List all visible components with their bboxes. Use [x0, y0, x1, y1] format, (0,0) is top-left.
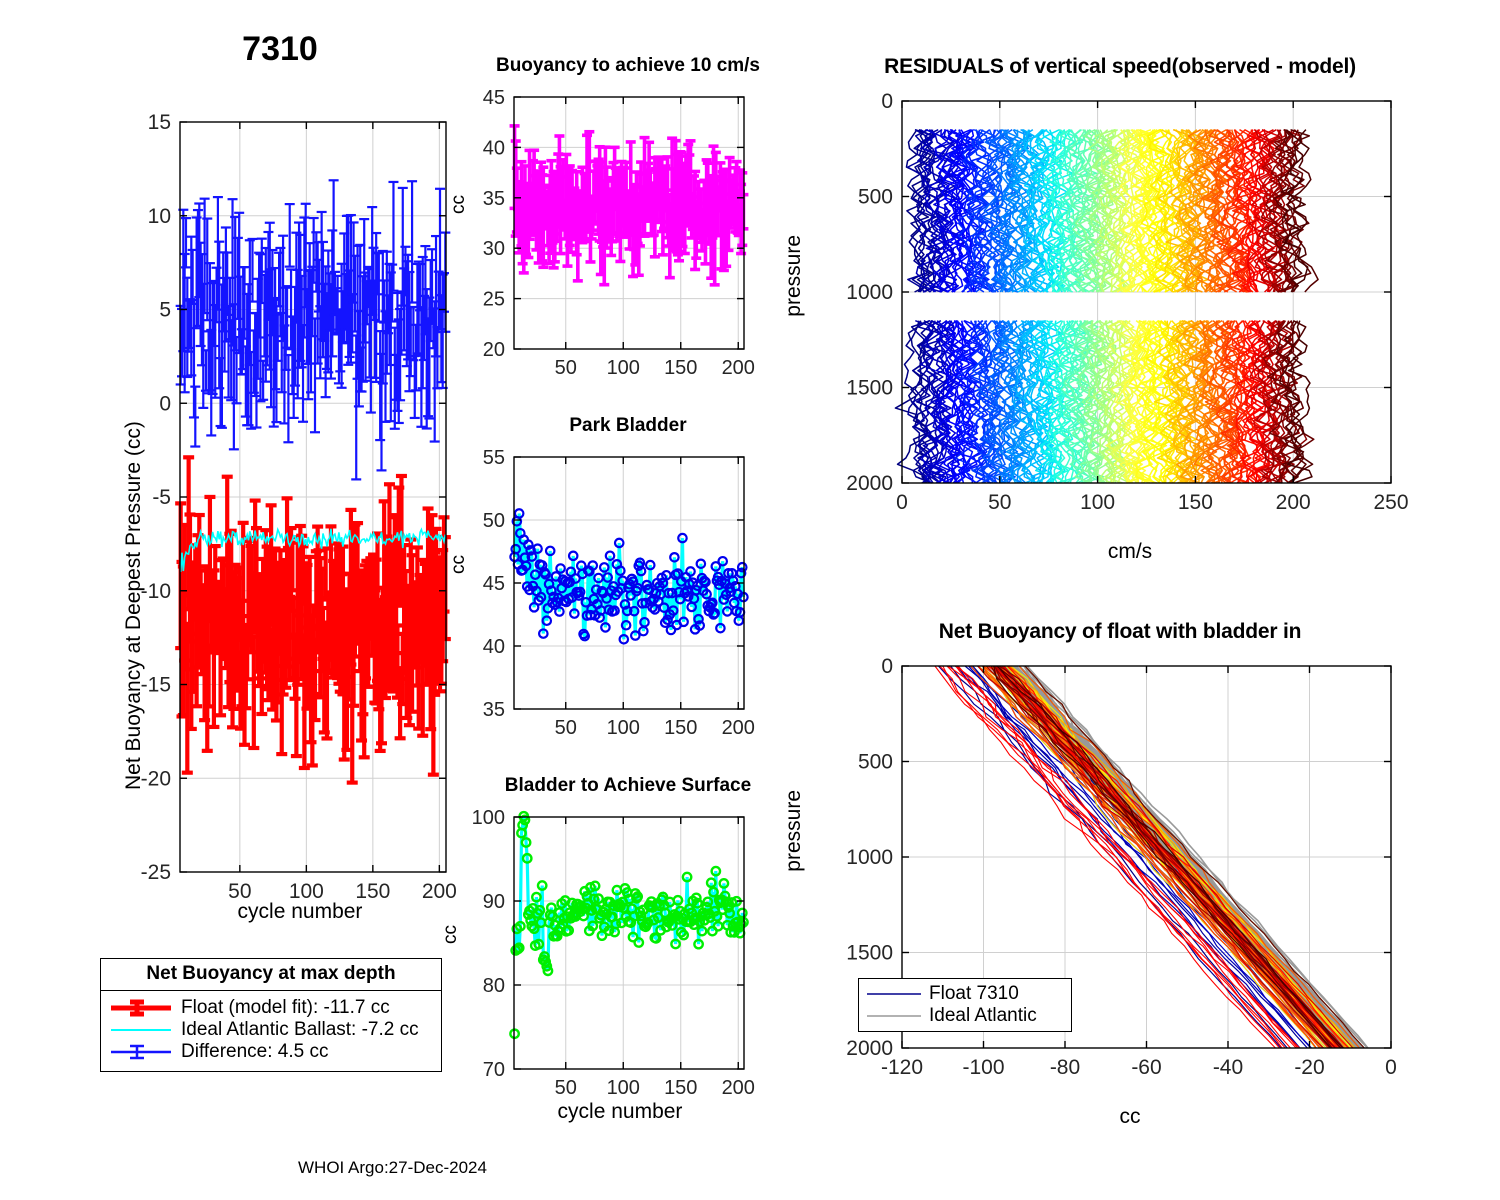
- y-tick-label: 20: [483, 339, 505, 361]
- x-tick-label: 250: [1373, 491, 1408, 514]
- chart-net-buoyancy-deepest: 50100150200151050-5-10-15-20-25: [120, 80, 460, 910]
- page-title: 7310: [100, 30, 460, 69]
- x-tick-label: 50: [555, 1077, 577, 1099]
- series-park-bladder-markers: [510, 509, 747, 643]
- x-tick-label: 200: [1276, 491, 1311, 514]
- y-tick-label: 1500: [846, 942, 893, 965]
- x-tick-label: 100: [607, 357, 640, 379]
- y-tick-label: -10: [141, 580, 171, 603]
- panel-buoyancy-10cms: Buoyancy to achieve 10 cm/s cc 501001502…: [440, 55, 770, 385]
- y-tick-label: 45: [483, 87, 505, 109]
- errorbar-swatch-blue: [109, 1042, 173, 1062]
- chart-park-bladder: 501001502005550454035: [472, 447, 772, 747]
- axis-label-y-pressure-bladder-in: pressure: [782, 790, 806, 872]
- legend-label: Ideal Atlantic Ballast: -7.2 cc: [181, 1019, 419, 1041]
- y-tick-label: 55: [483, 447, 505, 469]
- x-tick-label: 150: [664, 717, 697, 739]
- panel-title-bladder-surface: Bladder to Achieve Surface: [458, 775, 798, 797]
- line-swatch-gray: [865, 1007, 923, 1025]
- panel-title-net-buoyancy-bladder-in: Net Buoyancy of float with bladder in: [820, 620, 1420, 644]
- y-tick-label: 80: [483, 975, 505, 997]
- x-tick-label: 100: [607, 1077, 640, 1099]
- y-tick-label: 500: [858, 751, 893, 774]
- x-tick-label: 200: [722, 357, 755, 379]
- legend-label: Ideal Atlantic: [929, 1005, 1037, 1027]
- x-tick-label: 50: [988, 491, 1011, 514]
- x-tick-label: 150: [664, 1077, 697, 1099]
- legend-item-ideal-atlantic-ballast: Ideal Atlantic Ballast: -7.2 cc: [109, 1019, 433, 1041]
- axis-label-x-cc-bladder-in: cc: [890, 1105, 1370, 1129]
- x-tick-label: 150: [664, 357, 697, 379]
- x-tick-label: -60: [1131, 1056, 1161, 1079]
- axis-label-x-cycle-number: cycle number: [160, 900, 440, 924]
- x-tick-label: 200: [722, 717, 755, 739]
- y-tick-label: 1000: [846, 846, 893, 869]
- y-tick-label: 5: [159, 299, 171, 322]
- axis-label-x-cycle-number-2: cycle number: [480, 1100, 760, 1124]
- legend-label: Float (model fit): -11.7 cc: [181, 997, 390, 1019]
- y-tick-label: 40: [483, 137, 505, 159]
- panel-bladder-surface: Bladder to Achieve Surface cc 5010015020…: [440, 775, 770, 1135]
- x-tick-label: 100: [607, 717, 640, 739]
- legend-net-buoyancy-max-depth: Net Buoyancy at max depth Float (model f…: [100, 958, 442, 1072]
- y-tick-label: 90: [483, 891, 505, 913]
- y-tick-label: 2000: [846, 1037, 893, 1060]
- y-tick-label: 2000: [846, 472, 893, 495]
- y-tick-label: 0: [881, 90, 893, 113]
- axis-label-x-cms: cm/s: [890, 540, 1370, 564]
- y-tick-label: 15: [148, 111, 171, 134]
- series-float-model-fit: [175, 457, 451, 782]
- x-tick-label: -20: [1294, 1056, 1324, 1079]
- legend-item-float-7310: Float 7310: [865, 983, 1065, 1005]
- residual-band-ascent: [895, 321, 1313, 483]
- panel-net-buoyancy-bladder-in: Net Buoyancy of float with bladder in pr…: [790, 620, 1410, 1140]
- panel-title-residuals: RESIDUALS of vertical speed(observed - m…: [820, 55, 1420, 79]
- axis-label-y-cc-buoyancy: cc: [448, 195, 470, 214]
- x-tick-label: 100: [1080, 491, 1115, 514]
- line-swatch-cyan: [109, 1020, 173, 1040]
- y-tick-label: 500: [858, 186, 893, 209]
- axis-label-y-cc-park: cc: [448, 555, 470, 574]
- residual-band-descent: [906, 130, 1318, 292]
- y-tick-label: 30: [483, 238, 505, 260]
- y-tick-label: 100: [472, 807, 505, 829]
- y-tick-label: 50: [483, 510, 505, 532]
- y-tick-label: 1500: [846, 377, 893, 400]
- panel-net-buoyancy-deepest: 7310 Net Buoyancy at Deepest Pressure (c…: [100, 30, 460, 910]
- y-tick-label: 0: [159, 392, 171, 415]
- legend-float-ideal: Float 7310 Ideal Atlantic: [858, 978, 1072, 1032]
- series-buoyancy-errorbars: [510, 126, 749, 285]
- y-tick-label: 45: [483, 573, 505, 595]
- legend-label: Difference: 4.5 cc: [181, 1041, 329, 1063]
- errorbar-swatch-red: [109, 998, 173, 1018]
- series-difference: [176, 180, 451, 479]
- x-tick-label: 150: [1178, 491, 1213, 514]
- legend-item-difference: Difference: 4.5 cc: [109, 1041, 433, 1063]
- y-tick-label: 1000: [846, 281, 893, 304]
- x-tick-label: 50: [555, 357, 577, 379]
- y-tick-label: 40: [483, 636, 505, 658]
- x-tick-label: -100: [962, 1056, 1004, 1079]
- chart-residuals: 0501001502002500500100015002000: [846, 87, 1416, 507]
- chart-buoyancy-10cms: 50100150200454035302520: [472, 87, 772, 387]
- axis-label-y-cc-surface: cc: [440, 925, 462, 944]
- legend-label: Float 7310: [929, 983, 1019, 1005]
- y-tick-label: 35: [483, 699, 505, 721]
- panel-residuals: RESIDUALS of vertical speed(observed - m…: [790, 55, 1410, 585]
- chart-bladder-surface: 50100150200100908070: [472, 807, 772, 1107]
- footer-text: WHOI Argo:27-Dec-2024: [298, 1158, 487, 1178]
- y-tick-label: -5: [152, 486, 171, 509]
- x-tick-label: -40: [1213, 1056, 1243, 1079]
- x-tick-label: 50: [555, 717, 577, 739]
- y-tick-label: 25: [483, 289, 505, 311]
- panel-title-park-bladder: Park Bladder: [458, 415, 798, 437]
- y-tick-label: 10: [148, 205, 171, 228]
- y-tick-label: 0: [881, 655, 893, 678]
- x-tick-label: -80: [1050, 1056, 1080, 1079]
- panel-park-bladder: Park Bladder cc 501001502005550454035: [440, 415, 770, 745]
- y-tick-label: -20: [141, 767, 171, 790]
- x-tick-label: 0: [1385, 1056, 1397, 1079]
- legend-item-float-model-fit: Float (model fit): -11.7 cc: [109, 997, 433, 1019]
- y-tick-label: 70: [483, 1059, 505, 1081]
- legend-item-ideal-atlantic: Ideal Atlantic: [865, 1005, 1065, 1027]
- legend-title: Net Buoyancy at max depth: [101, 959, 441, 991]
- y-tick-label: 35: [483, 188, 505, 210]
- y-tick-label: -25: [141, 861, 171, 884]
- x-tick-label: 0: [896, 491, 908, 514]
- line-swatch-navy: [865, 985, 923, 1003]
- x-tick-label: 200: [722, 1077, 755, 1099]
- axis-label-y-pressure-residuals: pressure: [782, 235, 806, 317]
- y-tick-label: -15: [141, 674, 171, 697]
- panel-title-buoyancy-10cms: Buoyancy to achieve 10 cm/s: [458, 55, 798, 77]
